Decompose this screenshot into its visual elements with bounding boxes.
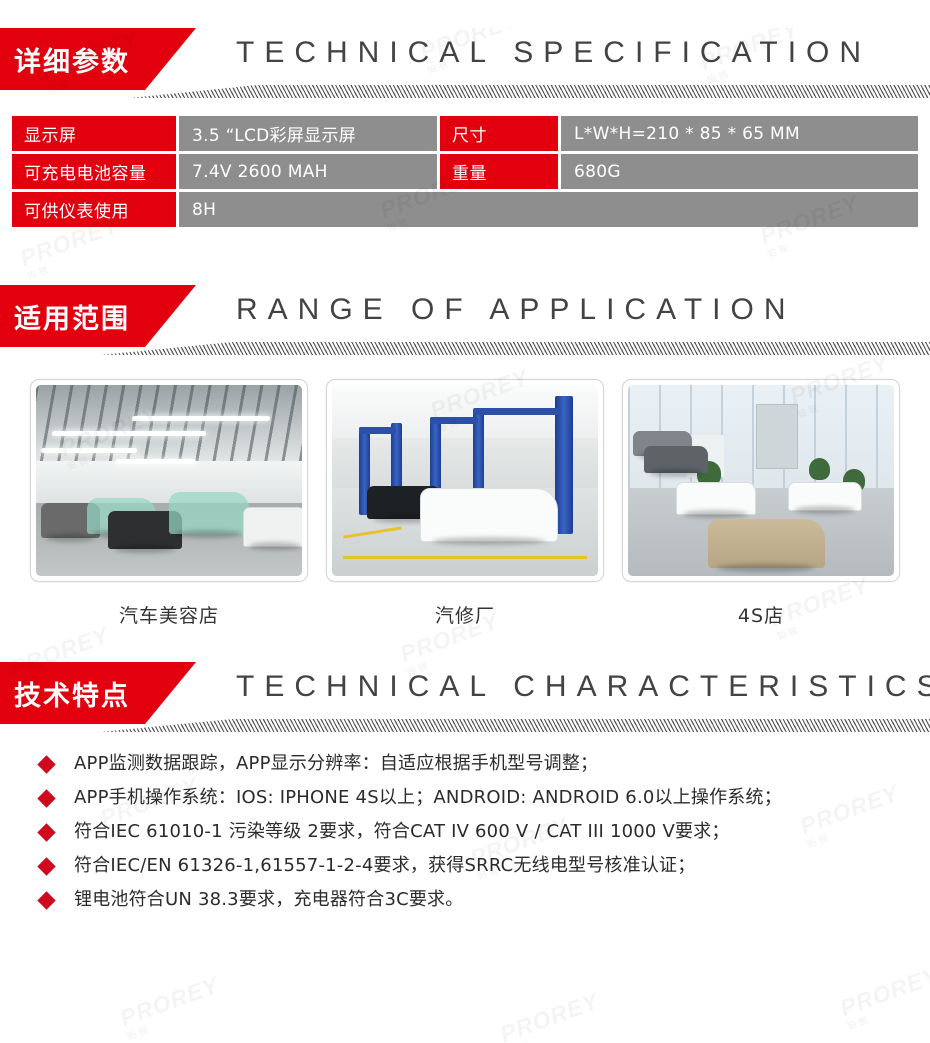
photo-dealership-showroom [628, 385, 894, 576]
hatch-decoration [130, 85, 930, 98]
table-row: 可供仪表使用 8H [12, 192, 918, 227]
section-title-range: RANGE OF APPLICATION [236, 293, 796, 327]
gallery-item: 汽修厂 [326, 379, 604, 628]
feature-text: 锂电池符合UN 38.3要求，充电器符合3C要求。 [74, 888, 463, 911]
watermark: PROREY铂锐 [497, 988, 607, 1043]
photo-frame [326, 379, 604, 582]
gallery-caption: 汽修厂 [326, 601, 604, 628]
table-row: 可充电电池容量 7.4V 2600 MAH 重量 680G [12, 154, 918, 189]
section-banner-specification: 详细参数 TECHNICAL SPECIFICATION [0, 28, 930, 100]
section-tag-label: 适用范围 [0, 297, 130, 336]
diamond-bullet-icon [37, 823, 55, 841]
photo-frame [30, 379, 308, 582]
gallery-item: 4S店 [622, 379, 900, 628]
feature-text: 符合IEC/EN 61326-1,61557-1-2-4要求，获得SRRC无线电… [74, 854, 695, 877]
section-banner-range: 适用范围 RANGE OF APPLICATION [0, 285, 930, 357]
application-gallery: 汽车美容店 汽修厂 [30, 379, 900, 628]
section-banner-characteristics: 技术特点 TECHNICAL CHARACTERISTICS [0, 662, 930, 734]
list-item: 符合IEC/EN 61326-1,61557-1-2-4要求，获得SRRC无线电… [32, 854, 930, 877]
section-tag-range: 适用范围 [0, 285, 196, 347]
section-title-characteristics: TECHNICAL CHARACTERISTICS [236, 670, 930, 704]
spec-label: 显示屏 [12, 116, 176, 151]
watermark: PROREY铂锐 [837, 962, 930, 1033]
gallery-caption: 4S店 [622, 601, 900, 628]
specification-table: 显示屏 3.5 “LCD彩屏显示屏 尺寸 L*W*H=210 * 85 * 65… [12, 116, 918, 227]
section-tag-characteristics: 技术特点 [0, 662, 196, 724]
spec-label: 尺寸 [440, 116, 558, 151]
spec-value: 7.4V 2600 MAH [179, 154, 437, 189]
spec-label: 重量 [440, 154, 558, 189]
list-item: APP手机操作系统：IOS: IPHONE 4S以上；ANDROID: ANDR… [32, 786, 930, 809]
diamond-bullet-icon [37, 857, 55, 875]
features-list: APP监测数据跟踪，APP显示分辨率：自适应根据手机型号调整； APP手机操作系… [32, 752, 930, 911]
feature-text: APP监测数据跟踪，APP显示分辨率：自适应根据手机型号调整； [74, 752, 598, 775]
spec-label: 可供仪表使用 [12, 192, 176, 227]
list-item: 锂电池符合UN 38.3要求，充电器符合3C要求。 [32, 888, 930, 911]
gallery-item: 汽车美容店 [30, 379, 308, 628]
list-item: 符合IEC 61010-1 污染等级 2要求，符合CAT IV 600 V / … [32, 820, 930, 843]
hatch-decoration [100, 719, 930, 732]
feature-text: APP手机操作系统：IOS: IPHONE 4S以上；ANDROID: ANDR… [74, 786, 782, 809]
diamond-bullet-icon [37, 789, 55, 807]
spec-value: 3.5 “LCD彩屏显示屏 [179, 116, 437, 151]
gallery-caption: 汽车美容店 [30, 601, 308, 628]
photo-frame [622, 379, 900, 582]
diamond-bullet-icon [37, 891, 55, 909]
section-tag-specification: 详细参数 [0, 28, 196, 90]
section-tag-label: 详细参数 [0, 40, 130, 79]
list-item: APP监测数据跟踪，APP显示分辨率：自适应根据手机型号调整； [32, 752, 930, 775]
photo-repair-garage [332, 385, 598, 576]
spec-value: 8H [179, 192, 918, 227]
photo-auto-beauty-shop [36, 385, 302, 576]
hatch-decoration [100, 342, 930, 355]
table-row: 显示屏 3.5 “LCD彩屏显示屏 尺寸 L*W*H=210 * 85 * 65… [12, 116, 918, 151]
feature-text: 符合IEC 61010-1 污染等级 2要求，符合CAT IV 600 V / … [74, 820, 730, 843]
spec-value: L*W*H=210 * 85 * 65 MM [561, 116, 918, 151]
watermark: PROREY铂锐 [117, 972, 227, 1043]
section-title-specification: TECHNICAL SPECIFICATION [236, 36, 871, 70]
spec-value: 680G [561, 154, 918, 189]
section-tag-label: 技术特点 [0, 674, 130, 713]
spec-label: 可充电电池容量 [12, 154, 176, 189]
diamond-bullet-icon [37, 755, 55, 773]
